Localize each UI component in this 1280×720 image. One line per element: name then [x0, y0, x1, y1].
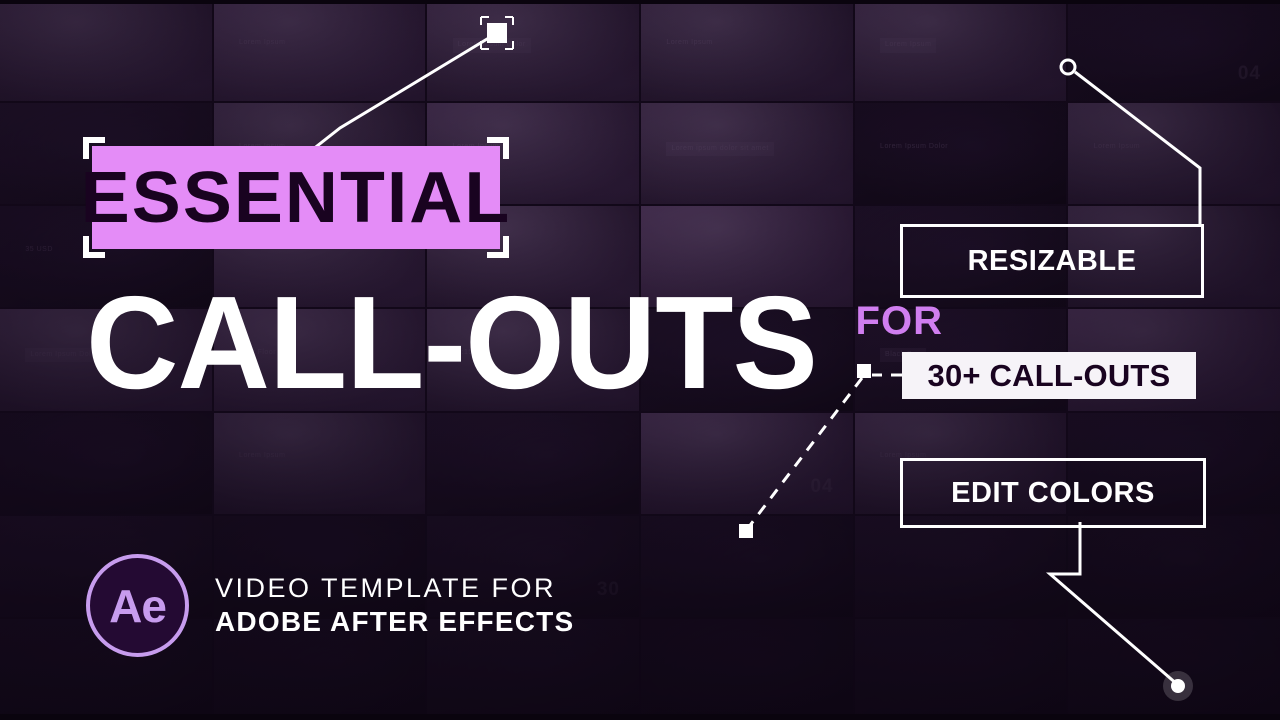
letterbox-bar-bottom: [0, 714, 1280, 720]
background-cell: Lorem Ipsum Dolor: [427, 0, 639, 101]
headline-suffix-text: FOR: [856, 301, 943, 341]
background-cell: [427, 413, 639, 514]
corner-bracket-bottom-left: [83, 236, 105, 258]
callout-chip-resizable[interactable]: RESIZABLE: [900, 224, 1204, 298]
callout-chip-count[interactable]: 30+ CALL-OUTS: [902, 352, 1196, 399]
cell-caption: Lorem Ipsum: [239, 38, 285, 49]
background-cell: [1068, 516, 1280, 617]
corner-bracket-top-right: [487, 137, 509, 159]
cell-caption: Lorem Ipsum: [239, 451, 285, 462]
cell-caption: 35 USD: [25, 245, 53, 256]
essential-badge-label: ESSENTIAL: [81, 162, 512, 234]
background-cell: [855, 516, 1067, 617]
background-cell: [641, 619, 853, 720]
poster-canvas: Lorem Ipsum Lorem Ipsum Dolor Lorem Ipsu…: [0, 0, 1280, 720]
letterbox-bar-top: [0, 0, 1280, 4]
brand-block: Ae VIDEO TEMPLATE FOR ADOBE AFTER EFFECT…: [86, 554, 574, 657]
background-cell: Lorem Ipsum: [641, 0, 853, 101]
essential-badge: ESSENTIAL: [92, 146, 500, 249]
brand-subtitle: VIDEO TEMPLATE FOR: [215, 572, 574, 605]
background-cell: [0, 413, 212, 514]
background-cell: Lorem Ipsum Dolor: [855, 103, 1067, 204]
background-cell: Lorem Ipsum: [855, 0, 1067, 101]
background-cell: Lorem ipsum dolor sit amet: [641, 103, 853, 204]
background-cell: 04: [641, 413, 853, 514]
background-cell: Lorem Ipsum: [214, 413, 426, 514]
background-cell: [0, 0, 212, 101]
callout-label: 30+ CALL-OUTS: [928, 358, 1171, 394]
after-effects-logo-label: Ae: [109, 583, 166, 629]
background-cell: [855, 619, 1067, 720]
cell-caption: Lorem Ipsum Dolor: [453, 38, 531, 53]
corner-bracket-bottom-right: [487, 236, 509, 258]
callout-label: EDIT COLORS: [951, 477, 1155, 510]
cell-number: 30: [597, 579, 620, 601]
background-cell: [1068, 619, 1280, 720]
cell-caption: Lorem ipsum dolor sit amet: [666, 142, 773, 157]
after-effects-logo-icon: Ae: [86, 554, 189, 657]
page-title: CALL-OUTS FOR: [86, 282, 943, 403]
callout-label: RESIZABLE: [968, 245, 1137, 278]
headline-main-text: CALL-OUTS: [86, 282, 817, 403]
background-cell: Lorem Ipsum: [1068, 103, 1280, 204]
brand-text-block: VIDEO TEMPLATE FOR ADOBE AFTER EFFECTS: [215, 572, 574, 639]
essential-badge-band: ESSENTIAL: [92, 146, 500, 249]
cell-caption: Lorem Ipsum: [666, 38, 712, 49]
cell-caption: Lorem Ipsum: [880, 38, 936, 53]
corner-bracket-top-left: [83, 137, 105, 159]
cell-number: 04: [810, 476, 833, 498]
background-cell: 04: [1068, 0, 1280, 101]
brand-title: ADOBE AFTER EFFECTS: [215, 605, 574, 639]
callout-chip-edit-colors[interactable]: EDIT COLORS: [900, 458, 1206, 528]
cell-caption: Lorem Ipsum Dolor: [880, 142, 948, 153]
background-cell: Lorem Ipsum: [214, 0, 426, 101]
cell-number: 04: [1238, 63, 1261, 85]
cell-caption: Lorem Ipsum: [1094, 142, 1140, 153]
background-cell: [641, 516, 853, 617]
